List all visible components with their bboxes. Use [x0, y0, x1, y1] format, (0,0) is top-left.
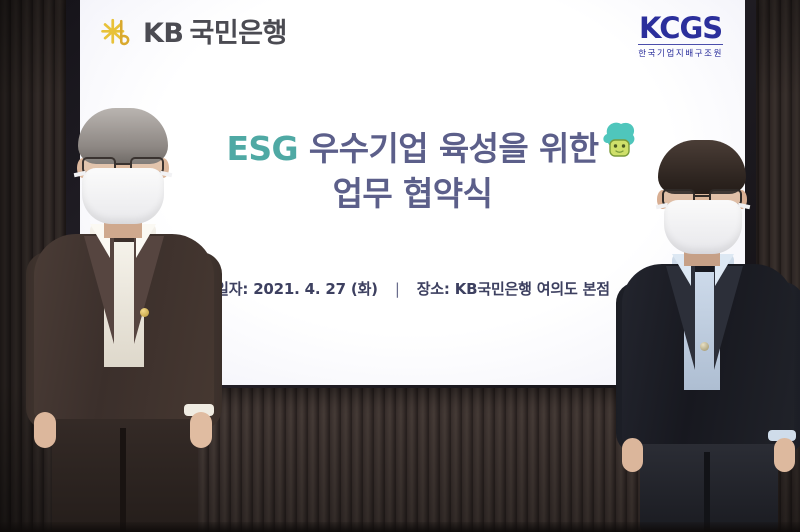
slide-title-line-1-rest: 우수기업 육성을 위한 — [298, 129, 599, 168]
person-left-face-mask — [82, 168, 164, 224]
person-right-hand-right — [774, 438, 795, 472]
person-right-button — [700, 342, 709, 351]
kcgs-logo-ko: 한국기업지배구조원 — [638, 47, 723, 59]
person-left-hand-left — [34, 412, 56, 448]
kcgs-logo: KCGS 한국기업지배구조원 — [638, 14, 723, 59]
person-right-hand-left — [622, 438, 643, 472]
photograph: KB국민은행 KCGS 한국기업지배구조원 ESG 우수기업 육성을 위한 업무… — [0, 0, 800, 532]
kb-bank-logo: KB국민은행 — [100, 16, 287, 50]
slide-subtitle-date: 일자: 2021. 4. 27 (화) — [215, 280, 378, 298]
slide-subtitle-divider: | — [395, 280, 400, 298]
kb-logo-ko: 국민은행 — [190, 18, 287, 49]
kb-logo-wordmark: KB국민은행 — [143, 20, 287, 47]
kcgs-logo-en: KCGS — [638, 14, 723, 43]
kb-logo-en: KB — [143, 18, 184, 49]
slide-title-highlight: ESG — [226, 129, 298, 168]
person-left-hand-right — [190, 412, 212, 448]
kcgs-logo-rule — [638, 44, 723, 45]
floor-shadow — [0, 522, 800, 532]
kb-star-icon — [100, 16, 134, 50]
person-right-face-mask — [664, 200, 742, 254]
person-left — [24, 112, 224, 532]
person-left-lapel-pin — [140, 308, 149, 317]
person-right — [616, 146, 800, 532]
slide-subtitle-place: 장소: KB국민은행 여의도 본점 — [417, 280, 610, 298]
person-left-leg-gap — [120, 428, 126, 532]
person-right-leg-gap — [704, 452, 710, 532]
